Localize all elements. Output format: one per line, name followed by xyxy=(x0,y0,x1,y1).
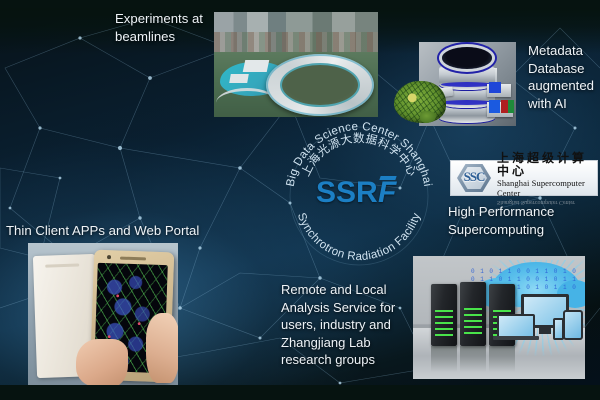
thin-client-phone-photo xyxy=(28,243,178,385)
ssc-name-chinese: 上海超级计算中心 xyxy=(497,152,594,178)
caption-metadata-database: Metadata Database augmented with AI xyxy=(528,42,600,112)
caption-experiments-at-beamlines: Experiments at beamlines xyxy=(115,10,225,45)
ssc-name-english: Shanghai Supercomputer Center xyxy=(497,178,594,198)
shanghai-supercomputer-center-logo: SSC 上海超级计算中心 Shanghai Supercomputer Cent… xyxy=(450,160,598,196)
badge-ring-text-bottom: Synchrotron Radiation Facility xyxy=(295,211,423,263)
caption-high-performance-supercomputing: High Performance Supercomputing xyxy=(448,203,598,238)
slide-canvas: 0 1 0 1 1 0 0 1 1 0 1 0 0 1 1 0 1 1 0 0 … xyxy=(0,0,600,400)
caption-thin-client-apps: Thin Client APPs and Web Portal xyxy=(6,222,256,240)
caption-remote-local-analysis: Remote and Local Analysis Service for us… xyxy=(281,281,409,369)
top-letterbox-band xyxy=(0,0,600,8)
ssrf-wordmark: S S R F xyxy=(316,178,408,208)
ssc-acronym: SSC xyxy=(454,169,494,185)
aerial-facility-photo xyxy=(214,12,378,117)
ssrf-circular-badge: Big Data Science Center Shanghai 上海光源大数据… xyxy=(279,116,439,276)
ssc-hexagon-mark: SSC xyxy=(454,163,494,193)
bottom-letterbox-band xyxy=(0,385,600,400)
